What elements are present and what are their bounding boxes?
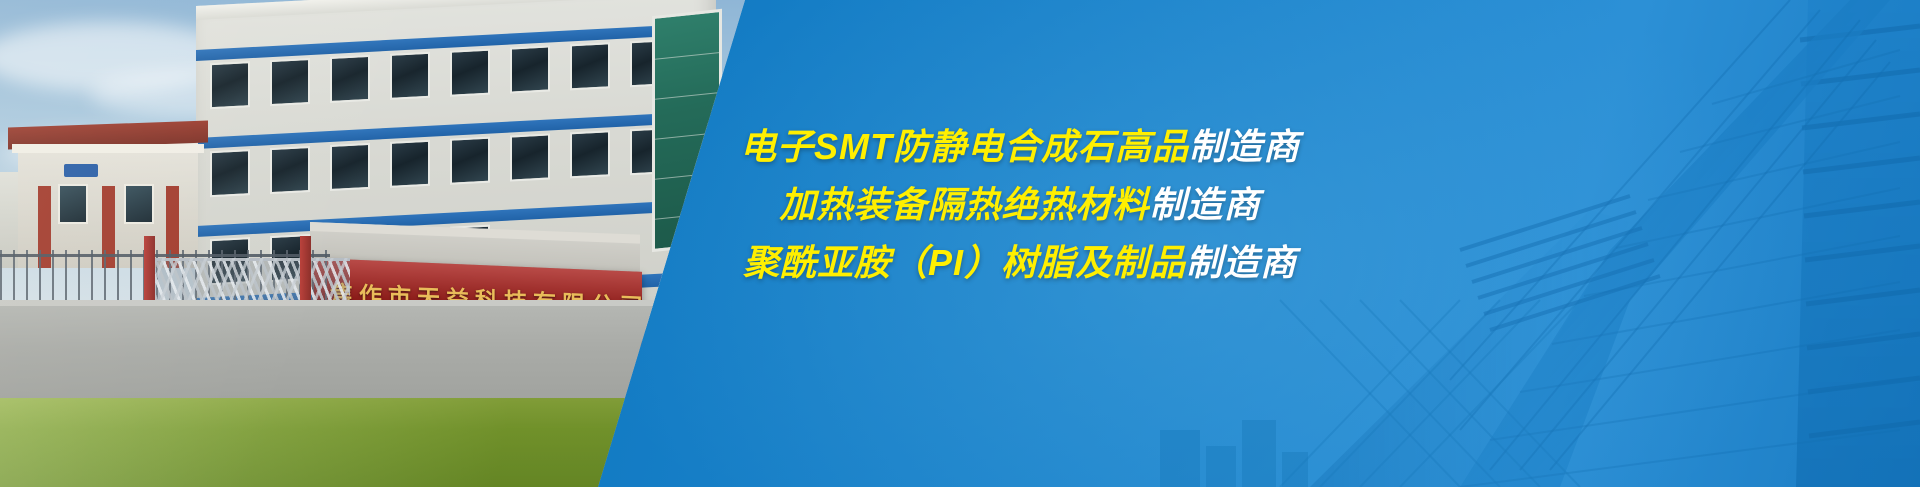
headline-1-plain: 制造商 — [1189, 126, 1300, 167]
headline-3-plain: 制造商 — [1186, 242, 1297, 283]
headline-2-plain: 制造商 — [1150, 184, 1261, 225]
headline-line-1: 电子SMT防静电合成石高品制造商 — [690, 118, 1350, 176]
headline-line-3: 聚酰亚胺（PI）树脂及制品制造商 — [690, 234, 1350, 292]
headline-1-highlight: 电子SMT防静电合成石高品 — [740, 126, 1189, 167]
headline-block: 电子SMT防静电合成石高品制造商 加热装备隔热绝热材料制造商 聚酰亚胺（PI）树… — [690, 118, 1350, 292]
headline-line-2: 加热装备隔热绝热材料制造商 — [690, 176, 1350, 234]
headline-3-highlight: 聚酰亚胺（PI）树脂及制品 — [743, 242, 1186, 283]
hero-banner: 焦作市天益科技有限公司 电子SMT防静电合成石高品制造商 加热装备隔热绝热材料制… — [0, 0, 1920, 487]
headline-2-highlight: 加热装备隔热绝热材料 — [779, 184, 1149, 225]
